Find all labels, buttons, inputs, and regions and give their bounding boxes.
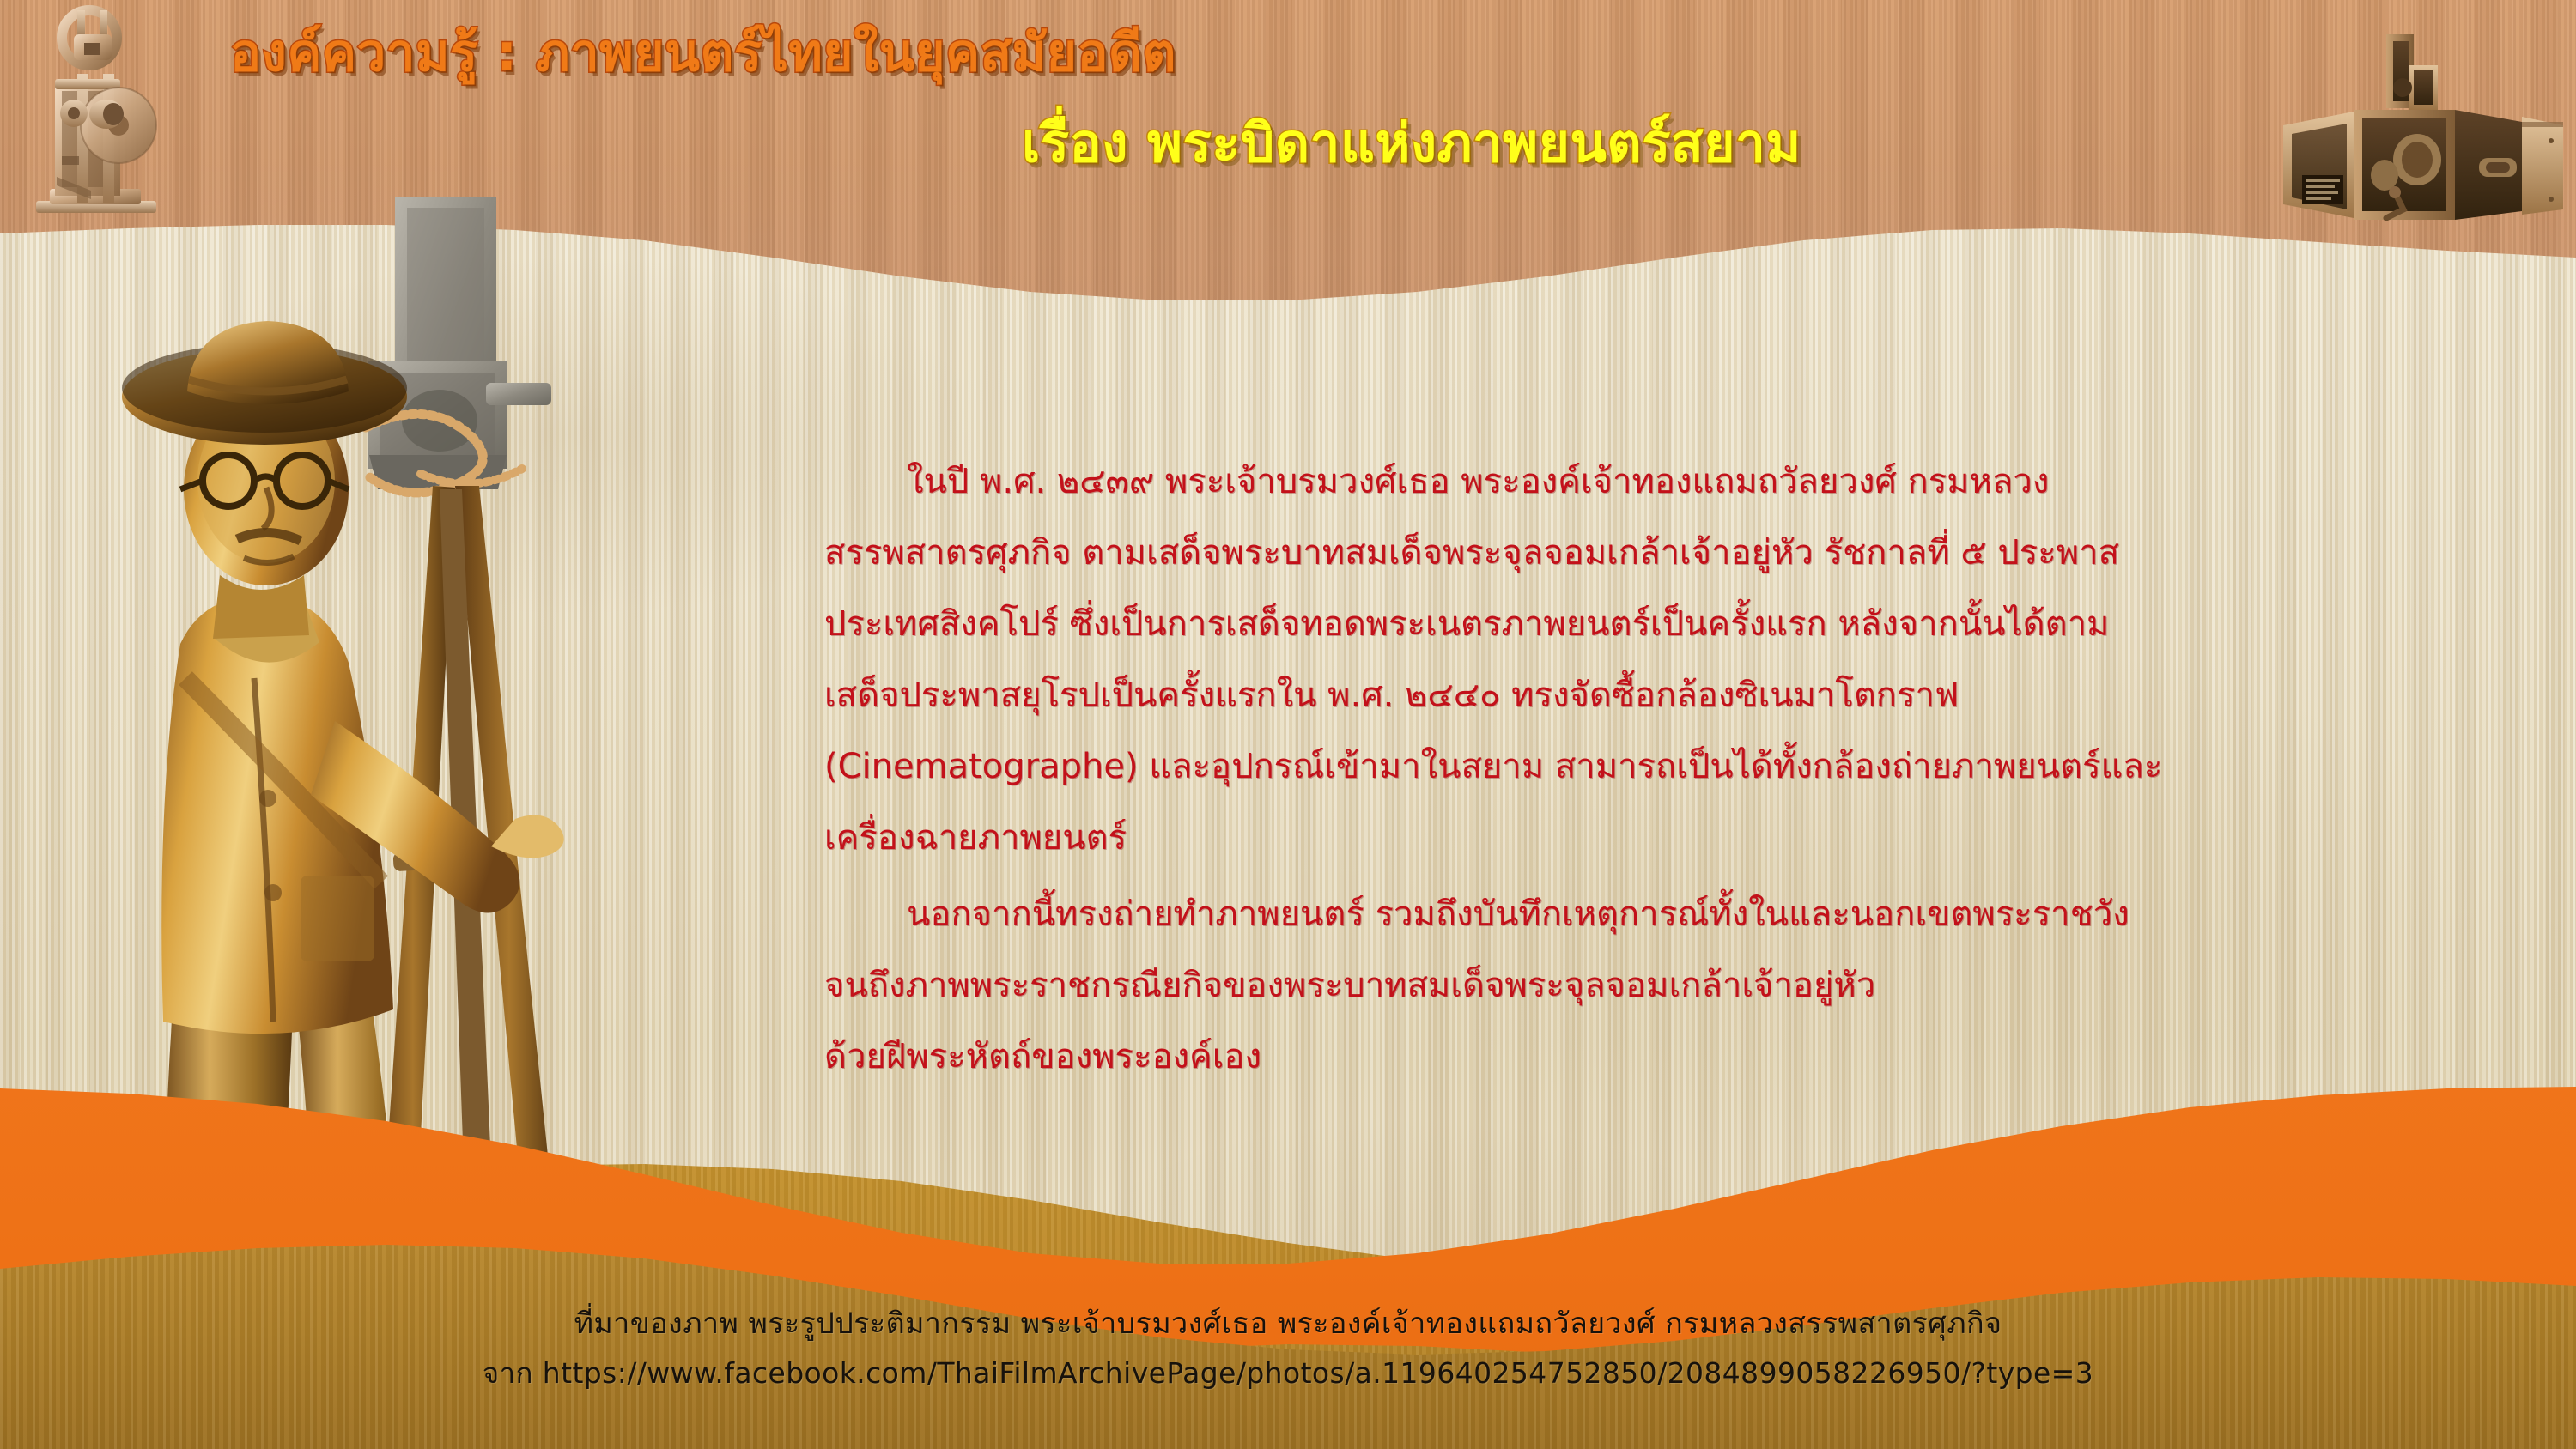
- body-paragraph-2-line-2: จนถึงภาพพระราชกรณียกิจของพระบาทสมเด็จพระ…: [824, 950, 2542, 1022]
- body-paragraph-2-line-1: นอกจากนี้ทรงถ่ายทำภาพยนตร์ รวมถึงบันทึกเ…: [824, 879, 2542, 950]
- footer-image-credit: ที่มาของภาพ พระรูปประติมากรรม พระเจ้าบรม…: [0, 1300, 2576, 1346]
- body-paragraph-1-line-3: ประเทศสิงคโปร์ ซึ่งเป็นการเสด็จทอดพระเนต…: [824, 589, 2542, 660]
- antique-film-projector-icon: [17, 5, 202, 224]
- page-title-line-1: องค์ความรู้ : ภาพยนตร์ไทยในยุคสมัยอดีต: [230, 12, 1176, 94]
- antique-wooden-cinematograph-camera-icon: [2264, 15, 2569, 221]
- slide-canvas: องค์ความรู้ : ภาพยนตร์ไทยในยุคสมัยอดีต เ…: [0, 0, 2576, 1449]
- statue-camera-head: [368, 197, 551, 489]
- body-paragraph-1-line-5: (Cinematographe) และอุปกรณ์เข้ามาในสยาม …: [824, 731, 2542, 803]
- page-title-line-2: เรื่อง พระบิดาแห่งภาพยนตร์สยาม: [1022, 101, 1801, 185]
- body-paragraph-1-line-1: ในปี พ.ศ. ๒๔๓๙ พระเจ้าบรมวงศ์เธอ พระองค์…: [824, 446, 2542, 518]
- footer-source-url[interactable]: จาก https://www.facebook.com/ThaiFilmArc…: [0, 1350, 2576, 1396]
- body-paragraph-1-line-2: สรรพสาตรศุภกิจ ตามเสด็จพระบาทสมเด็จพระจุ…: [824, 518, 2542, 589]
- body-paragraph-1-line-4: เสด็จประพาสยุโรปเป็นครั้งแรกใน พ.ศ. ๒๔๔๐…: [824, 660, 2542, 731]
- body-text-block: ในปี พ.ศ. ๒๔๓๙ พระเจ้าบรมวงศ์เธอ พระองค์…: [824, 446, 2542, 1093]
- body-paragraph-2-line-3: ด้วยฝีพระหัตถ์ของพระองค์เอง: [824, 1022, 2542, 1093]
- body-paragraph-1-line-6: เครื่องฉายภาพยนตร์: [824, 803, 2542, 874]
